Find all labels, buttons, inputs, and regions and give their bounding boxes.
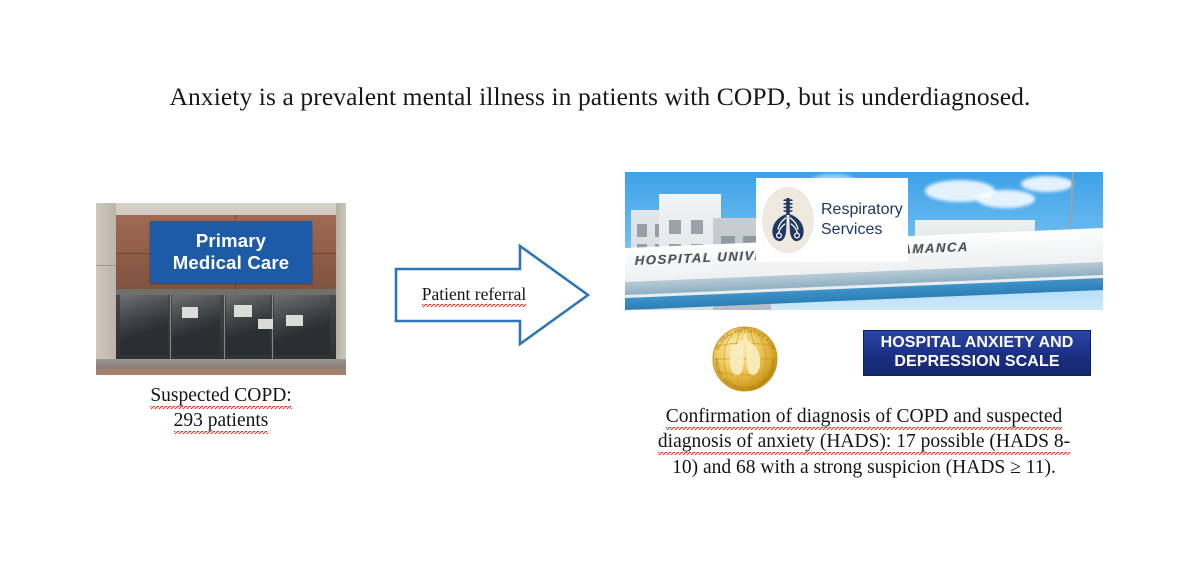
- facade-pier-right: [336, 203, 346, 375]
- respiratory-services-text: Respiratory Services: [821, 200, 903, 241]
- primary-care-panel: Primary Medical Care Suspected COPD: 293…: [96, 203, 346, 434]
- entrance-doors: [116, 289, 336, 361]
- left-caption-line-2: 293 patients: [174, 410, 269, 434]
- pavement: [96, 359, 346, 375]
- sign-line-1: Primary: [196, 230, 266, 252]
- right-caption: Confirmation of diagnosis of COPD and su…: [625, 404, 1103, 480]
- hospital-panel: HOSPITAL UNIVERSITARIO DE SALAMANCA: [625, 172, 1103, 480]
- left-caption: Suspected COPD: 293 patients: [96, 384, 346, 434]
- primary-medical-care-sign: Primary Medical Care: [150, 221, 312, 283]
- right-caption-line-1: Confirmation of diagnosis of COPD and su…: [666, 406, 1062, 430]
- primary-medical-care-building-photo: Primary Medical Care: [96, 203, 346, 375]
- hads-banner: HOSPITAL ANXIETY AND DEPRESSION SCALE: [863, 330, 1091, 376]
- hads-line-2: DEPRESSION SCALE: [894, 353, 1059, 372]
- door-lintel: [116, 289, 336, 295]
- sign-line-2: Medical Care: [173, 252, 290, 274]
- respiratory-line-2: Services: [821, 220, 903, 240]
- respiratory-line-1: Respiratory: [821, 200, 903, 220]
- respiratory-services-logo: Respiratory Services: [756, 178, 908, 262]
- arrow-label: Patient referral: [394, 284, 554, 305]
- right-caption-line-2: diagnosis of anxiety (HADS): 17 possible…: [658, 431, 1070, 455]
- right-caption-line-3: 10) and 68 with a strong suspicion (HADS…: [672, 457, 1056, 478]
- hads-line-1: HOSPITAL ANXIETY AND: [881, 334, 1074, 353]
- page-title: Anxiety is a prevalent mental illness in…: [0, 82, 1200, 112]
- patient-referral-arrow: Patient referral: [394, 243, 590, 347]
- lungs-icon: [762, 187, 814, 253]
- left-caption-line-1: Suspected COPD:: [150, 385, 291, 409]
- badge-row: GLOBAL INITIATIVE FOR CHRONIC OBSTRUCTIV…: [625, 310, 1103, 400]
- gold-copd-seal: GLOBAL INITIATIVE FOR CHRONIC OBSTRUCTIV…: [702, 316, 788, 402]
- facade-pier-left: [96, 203, 116, 375]
- hospital-universitario-de-salamanca-photo: HOSPITAL UNIVERSITARIO DE SALAMANCA: [625, 172, 1103, 310]
